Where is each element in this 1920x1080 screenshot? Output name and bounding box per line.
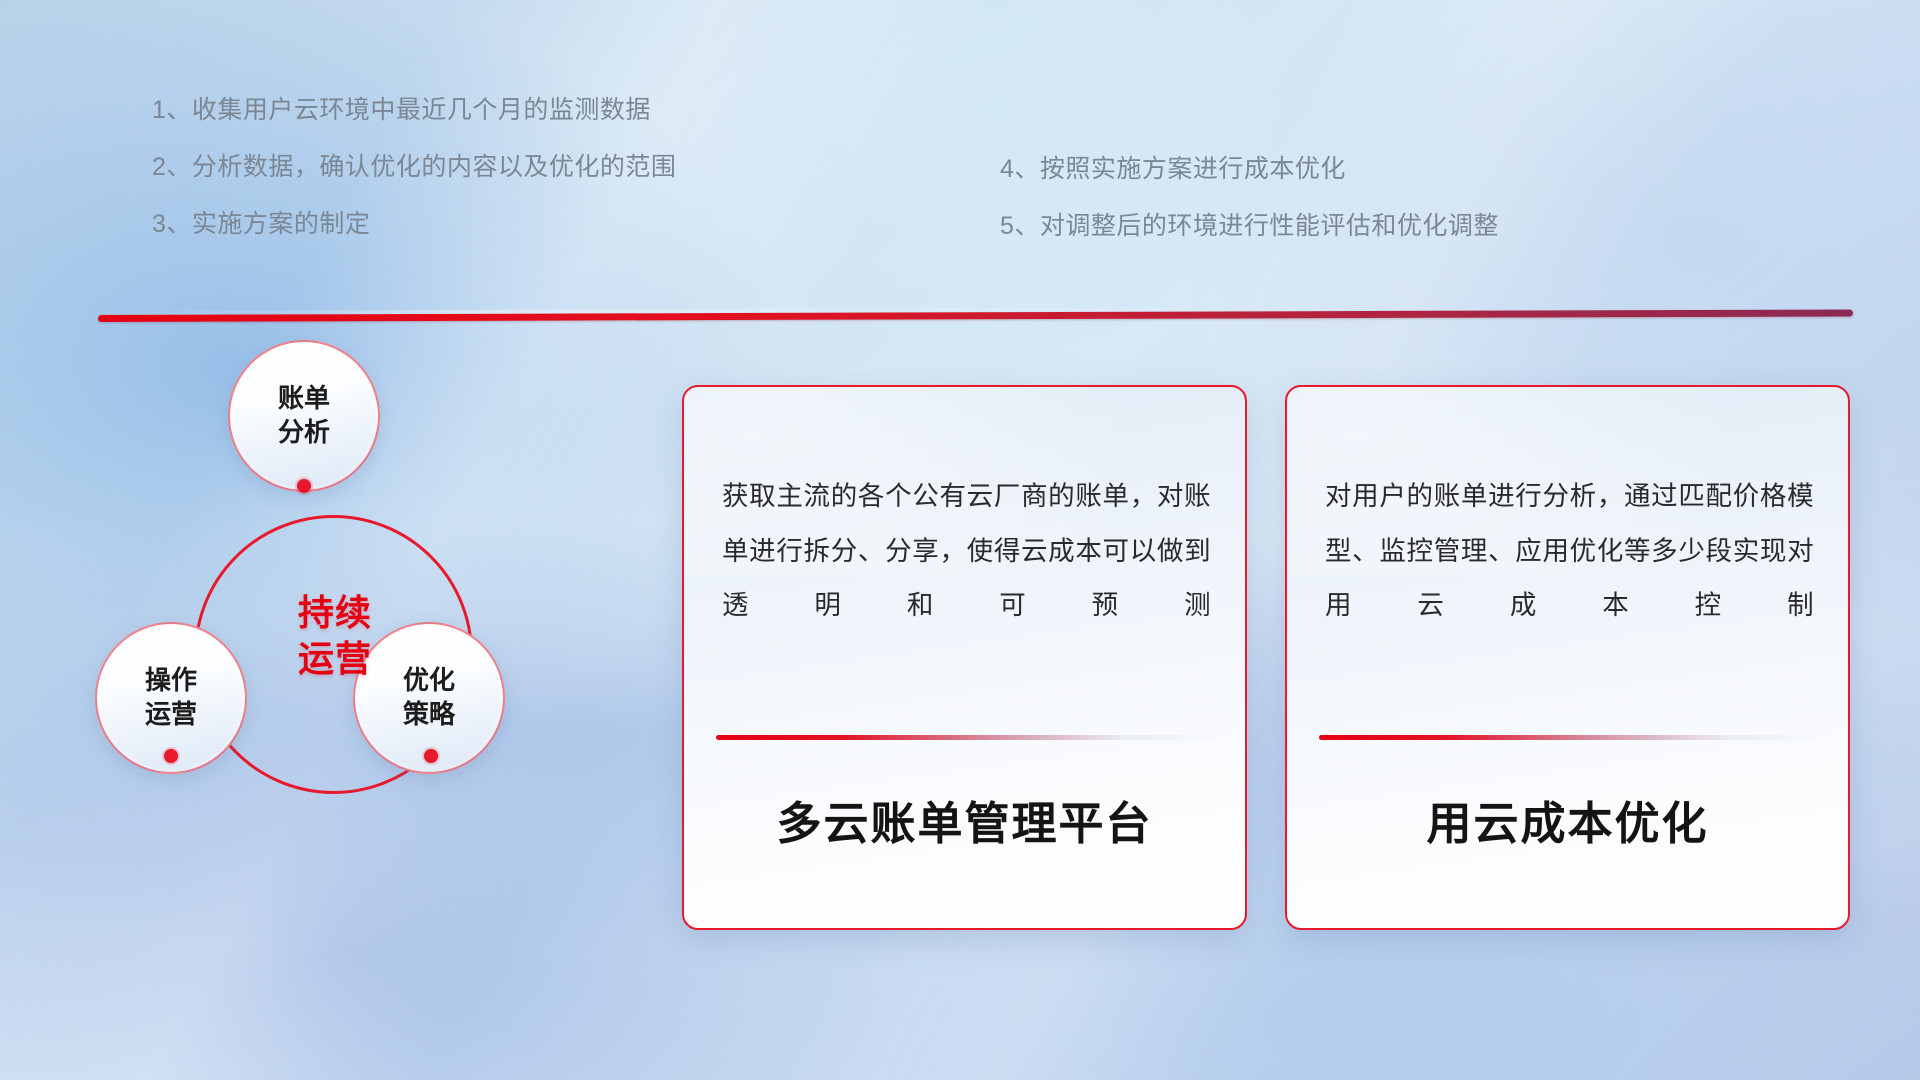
step-item-3: 3、实施方案的制定 xyxy=(152,212,676,237)
card-title: 多云账单管理平台 xyxy=(684,787,1245,852)
bubble-label-line1: 操作 xyxy=(145,664,197,698)
bubble-label-line2: 运营 xyxy=(145,698,197,732)
connector-dot-right-icon xyxy=(424,749,438,763)
step-item-5: 5、对调整后的环境进行性能评估和优化调整 xyxy=(1000,214,1499,239)
diagram-bubble-billing-analysis[interactable]: 账单 分析 xyxy=(228,340,380,492)
card-divider xyxy=(1319,735,1818,740)
card-divider xyxy=(716,735,1215,740)
step-item-4: 4、按照实施方案进行成本优化 xyxy=(1000,157,1499,182)
connector-dot-left-icon xyxy=(164,749,178,763)
card-multi-cloud-billing[interactable]: 获取主流的各个公有云厂商的账单，对账单进行拆分、分享，使得云成本可以做到透明和可… xyxy=(682,385,1247,930)
step-item-2: 2、分析数据，确认优化的内容以及优化的范围 xyxy=(152,155,676,180)
step-item-1: 1、收集用户云环境中最近几个月的监测数据 xyxy=(152,98,676,123)
bubble-label-line1: 账单 xyxy=(278,382,330,416)
card-title: 用云成本优化 xyxy=(1287,787,1848,852)
center-label-line1: 持续 xyxy=(245,590,425,636)
bubble-label-line2: 分析 xyxy=(278,416,330,450)
diagram-center-label: 持续 运营 xyxy=(245,590,425,682)
steps-list-left: 1、收集用户云环境中最近几个月的监测数据 2、分析数据，确认优化的内容以及优化的… xyxy=(152,98,676,269)
connector-dot-top-icon xyxy=(297,479,311,493)
card-cloud-cost-optimization[interactable]: 对用户的账单进行分析，通过匹配价格模型、监控管理、应用优化等多少段实现对用云成本… xyxy=(1285,385,1850,930)
center-label-line2: 运营 xyxy=(245,636,425,682)
steps-list-right: 4、按照实施方案进行成本优化 5、对调整后的环境进行性能评估和优化调整 xyxy=(1000,157,1499,271)
card-body-text: 对用户的账单进行分析，通过匹配价格模型、监控管理、应用优化等多少段实现对用云成本… xyxy=(1325,469,1814,633)
card-body-text: 获取主流的各个公有云厂商的账单，对账单进行拆分、分享，使得云成本可以做到透明和可… xyxy=(722,469,1211,633)
continuous-operation-diagram: 账单 分析 操作 运营 优化 策略 持续 运营 xyxy=(95,340,615,940)
slide-canvas: 1、收集用户云环境中最近几个月的监测数据 2、分析数据，确认优化的内容以及优化的… xyxy=(0,0,1920,1080)
bubble-label-line2: 策略 xyxy=(403,698,455,732)
section-divider-rule xyxy=(98,309,1853,322)
